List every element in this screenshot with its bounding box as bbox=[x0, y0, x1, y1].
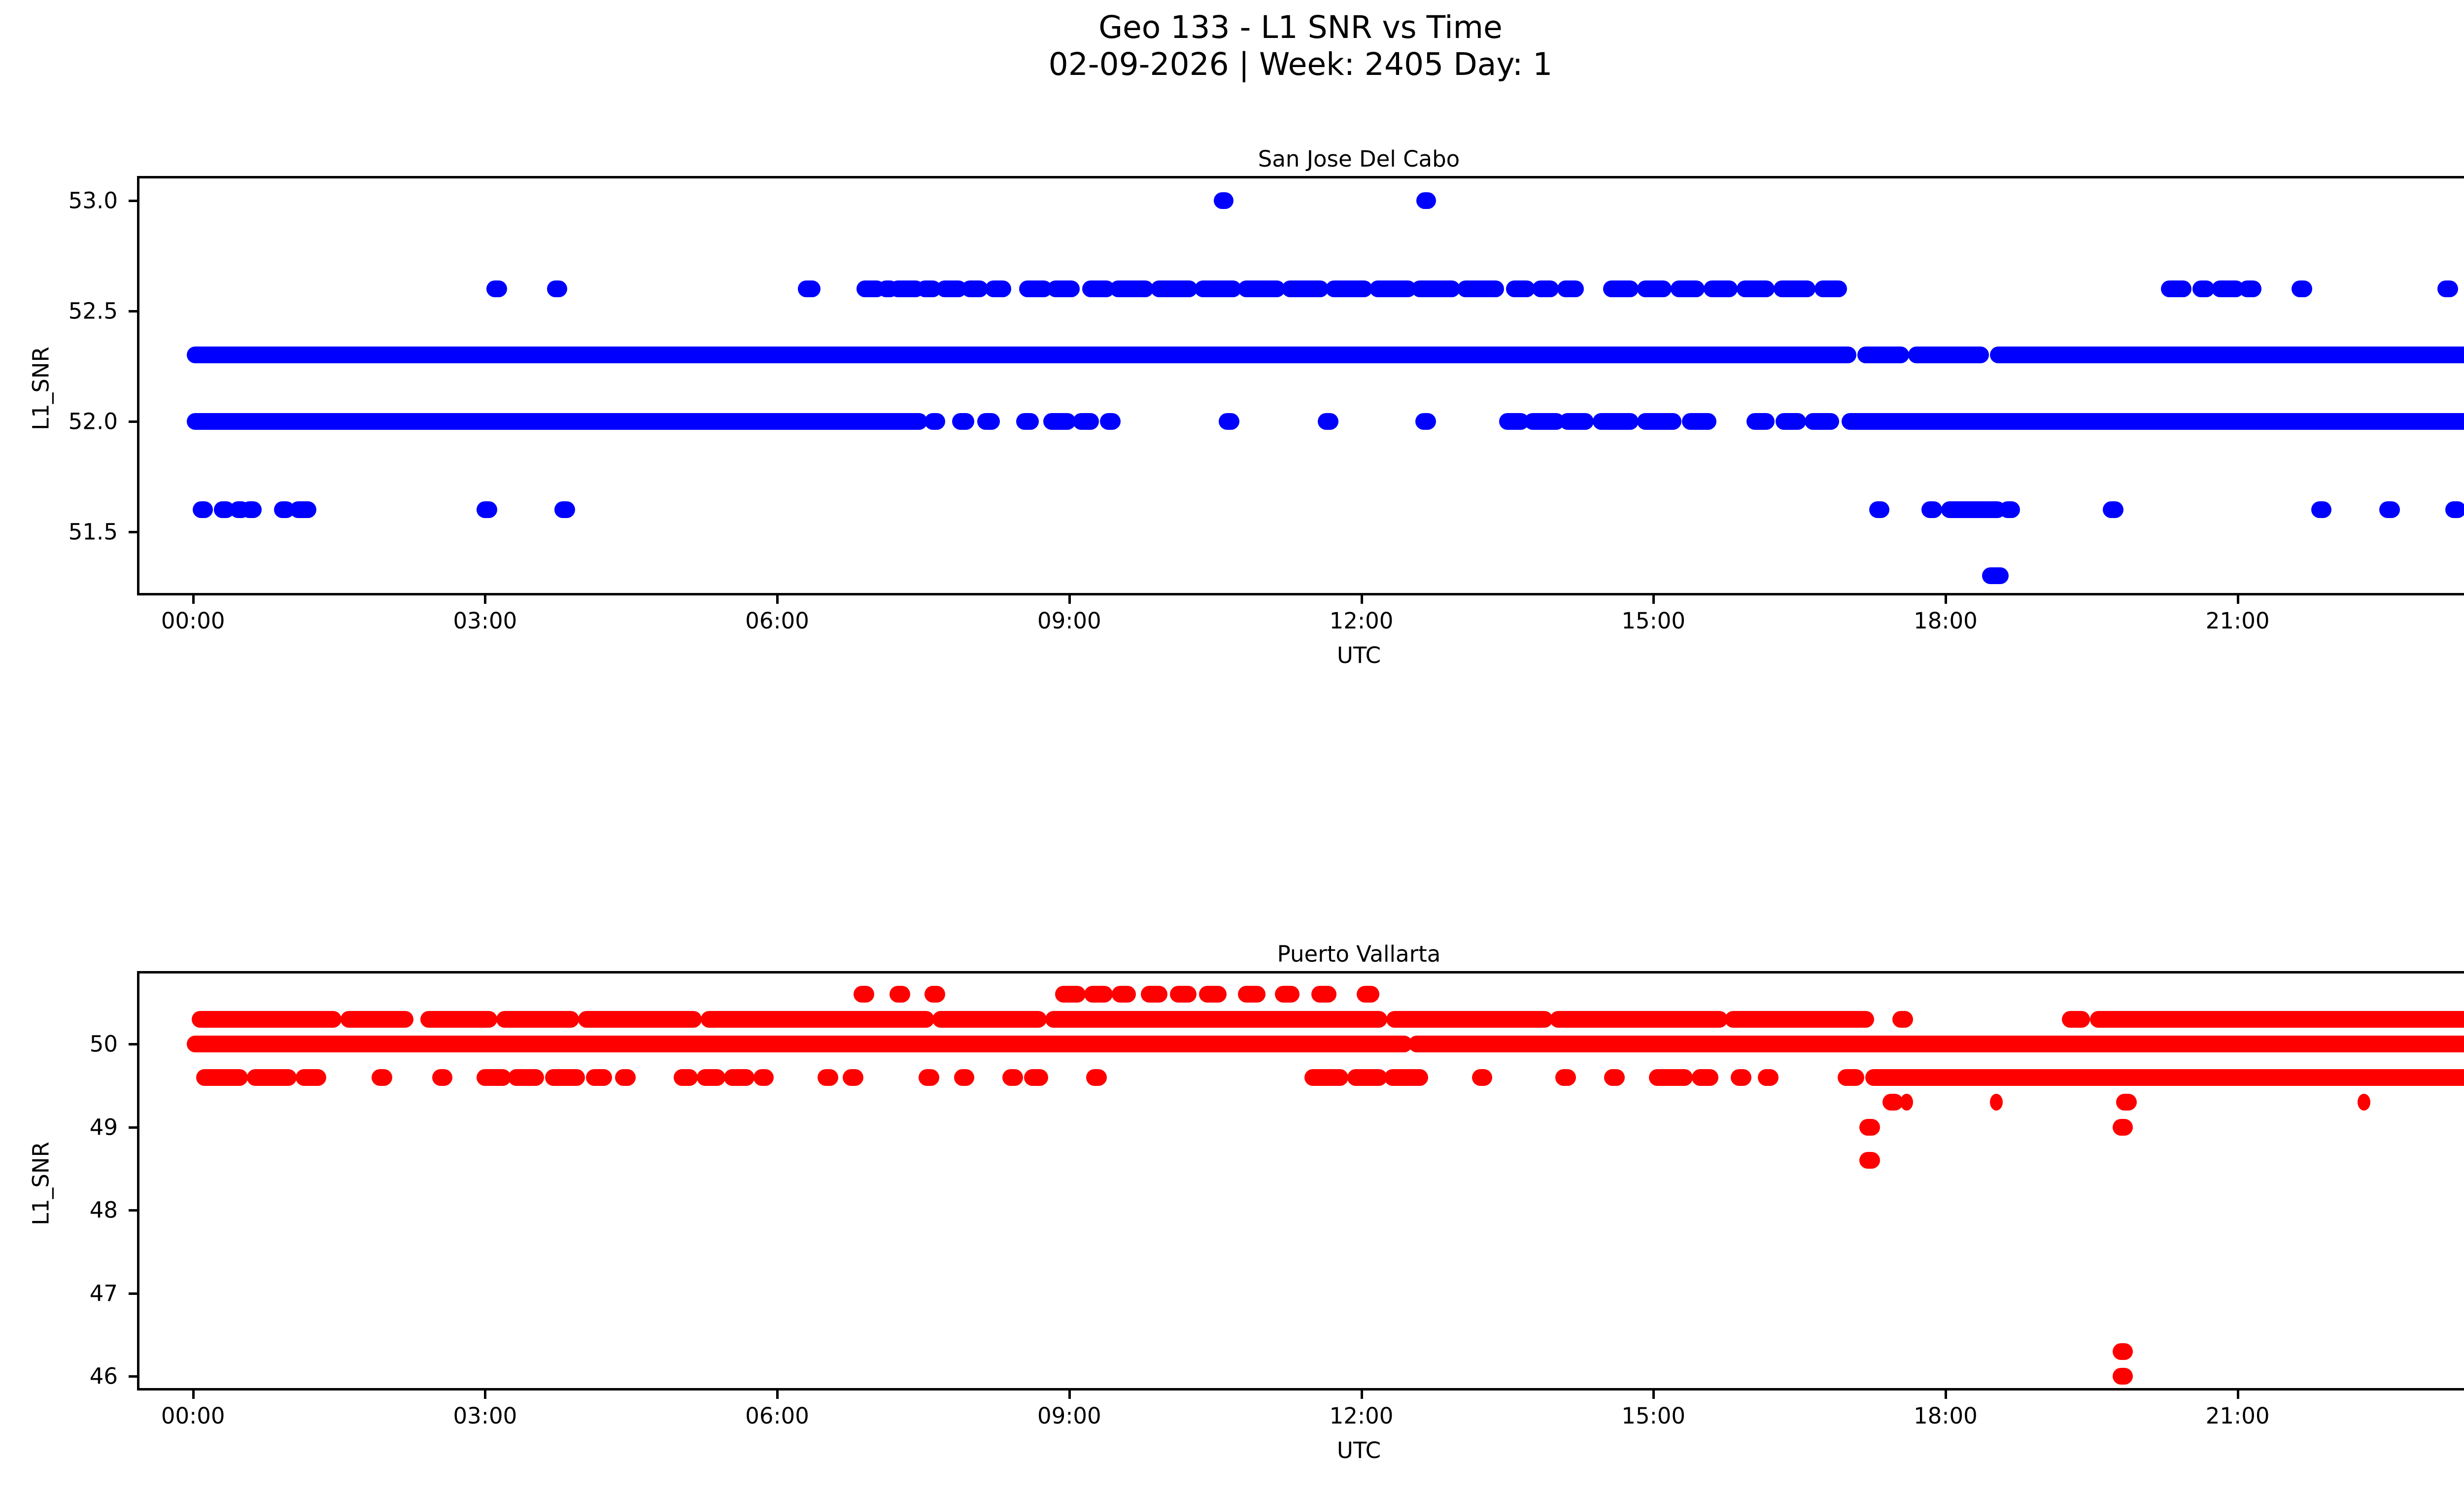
data-marker-run bbox=[1415, 413, 1436, 430]
data-marker-run bbox=[1318, 413, 1338, 430]
data-marker-run bbox=[2113, 1343, 2133, 1360]
data-marker-run bbox=[2437, 280, 2458, 297]
y-axis-tick-label: 51.5 bbox=[0, 521, 118, 543]
x-axis-tick-label: 03:00 bbox=[411, 610, 559, 632]
data-marker-run bbox=[924, 413, 945, 430]
x-axis-tick bbox=[484, 1388, 486, 1399]
y-axis-tick-label: 46 bbox=[0, 1365, 118, 1388]
data-marker-run bbox=[432, 1069, 453, 1086]
x-axis-tick bbox=[484, 593, 486, 604]
data-marker-run bbox=[985, 280, 1012, 297]
x-axis-tick-label: 18:00 bbox=[1872, 1405, 2019, 1427]
x-axis-tick bbox=[1652, 593, 1655, 604]
data-marker-run bbox=[1692, 1069, 1718, 1086]
scatter-plot-area-2 bbox=[139, 973, 2464, 1388]
data-marker-run bbox=[1112, 986, 1136, 1003]
y-axis-tick bbox=[129, 1126, 139, 1129]
x-axis-tick-label: 06:00 bbox=[703, 1405, 851, 1427]
data-marker-run bbox=[1746, 413, 1775, 430]
y-axis-tick bbox=[129, 1375, 139, 1378]
data-marker-run bbox=[1524, 413, 1564, 430]
data-marker-run bbox=[924, 986, 945, 1003]
y-axis-tick bbox=[129, 1043, 139, 1045]
data-marker-run bbox=[1151, 280, 1198, 297]
data-marker-run bbox=[1637, 413, 1681, 430]
data-marker-run bbox=[290, 501, 316, 518]
x-axis-tick-label: 18:00 bbox=[1872, 610, 2019, 632]
data-marker-run bbox=[1214, 192, 1233, 209]
x-axis-tick-label: 03:00 bbox=[411, 1405, 559, 1427]
data-marker-run bbox=[1386, 1011, 1553, 1028]
data-marker-run bbox=[1921, 501, 1942, 518]
data-marker-run bbox=[1859, 1152, 1880, 1169]
y-axis-label-2: L1_SNR bbox=[30, 1110, 52, 1257]
x-axis-tick-label: 21:00 bbox=[2164, 1405, 2312, 1427]
data-marker-run bbox=[1073, 413, 1099, 430]
subplot-title-1: San Jose Del Cabo bbox=[139, 148, 2464, 170]
data-marker-run bbox=[1457, 280, 1504, 297]
y-axis-tick bbox=[129, 420, 139, 423]
data-marker-run bbox=[1869, 501, 1890, 518]
data-marker-run bbox=[1908, 347, 1989, 363]
data-marker-run bbox=[2292, 280, 2312, 297]
data-marker-run bbox=[1842, 413, 2464, 430]
data-marker-run bbox=[1865, 1069, 2464, 1086]
data-marker-run bbox=[1275, 986, 1300, 1003]
data-marker-run bbox=[1304, 1069, 1348, 1086]
data-marker-run bbox=[1369, 280, 1416, 297]
data-marker-run bbox=[1047, 280, 1080, 297]
data-marker-run bbox=[2062, 1011, 2090, 1028]
data-marker-run bbox=[1110, 280, 1154, 297]
data-marker-run bbox=[843, 1069, 863, 1086]
data-marker-run bbox=[554, 501, 575, 518]
data-marker-run bbox=[1731, 1069, 1751, 1086]
data-marker-run bbox=[1704, 280, 1738, 297]
x-axis-tick bbox=[776, 593, 779, 604]
data-marker-run bbox=[1326, 280, 1372, 297]
x-axis-tick-label: 09:00 bbox=[995, 1405, 1143, 1427]
data-marker-run bbox=[1892, 1011, 1913, 1028]
data-marker-run bbox=[241, 501, 262, 518]
data-marker-run bbox=[2113, 1119, 2133, 1136]
data-marker-run bbox=[1195, 280, 1241, 297]
data-marker-run bbox=[496, 1011, 579, 1028]
data-marker-run bbox=[508, 1069, 544, 1086]
data-marker-run bbox=[1416, 192, 1436, 209]
data-marker-run bbox=[1532, 280, 1559, 297]
data-marker-run bbox=[247, 1069, 297, 1086]
data-marker-run bbox=[1043, 413, 1076, 430]
y-axis-tick-label: 52.0 bbox=[0, 410, 118, 432]
data-marker-run bbox=[798, 280, 821, 297]
data-marker-run bbox=[818, 1069, 838, 1086]
x-axis-tick-label: 00:00 bbox=[119, 610, 267, 632]
x-axis-tick-label: 00:00 bbox=[119, 1405, 267, 1427]
x-axis-tick bbox=[1361, 1388, 1363, 1399]
data-marker-run bbox=[1282, 280, 1329, 297]
data-marker-run bbox=[932, 1011, 1046, 1028]
x-axis-label-2: UTC bbox=[139, 1439, 2464, 1461]
data-marker-run bbox=[890, 986, 910, 1003]
y-axis-tick bbox=[129, 531, 139, 533]
data-marker-run bbox=[1141, 986, 1167, 1003]
data-marker-run bbox=[578, 1011, 702, 1028]
data-marker-run bbox=[1024, 1069, 1049, 1086]
data-marker-run bbox=[697, 1069, 725, 1086]
data-marker-run bbox=[1384, 1069, 1428, 1086]
figure-canvas: Geo 133 - L1 SNR vs Time 02-09-2026 | We… bbox=[0, 0, 2464, 1495]
data-marker-run bbox=[1045, 1011, 1387, 1028]
data-marker-run bbox=[724, 1069, 754, 1086]
x-axis-tick bbox=[1652, 1388, 1655, 1399]
x-axis-tick-label: 09:00 bbox=[995, 610, 1143, 632]
data-marker-run bbox=[1682, 413, 1716, 430]
y-axis-tick-label: 49 bbox=[0, 1116, 118, 1138]
y-axis-tick bbox=[129, 1209, 139, 1212]
subplot-title-2: Puerto Vallarta bbox=[139, 943, 2464, 965]
data-marker-run bbox=[2379, 501, 2400, 518]
data-marker-run bbox=[1550, 1011, 1728, 1028]
data-marker-run bbox=[1170, 986, 1197, 1003]
data-marker-run bbox=[1347, 1069, 1387, 1086]
data-point bbox=[1990, 1094, 2003, 1111]
data-marker-run bbox=[1776, 413, 1806, 430]
data-marker-run bbox=[1086, 1069, 1107, 1086]
data-marker-run bbox=[1100, 413, 1121, 430]
data-marker-run bbox=[1999, 501, 2020, 518]
data-marker-run bbox=[2116, 1094, 2137, 1111]
suptitle-line-2: 02-09-2026 | Week: 2405 Day: 1 bbox=[0, 46, 2464, 83]
figure-suptitle: Geo 133 - L1 SNR vs Time 02-09-2026 | We… bbox=[0, 0, 2464, 83]
data-marker-run bbox=[977, 413, 1000, 430]
y-axis-tick-label: 53.0 bbox=[0, 189, 118, 211]
data-marker-run bbox=[545, 1069, 585, 1086]
x-axis-tick-label: 00:00 bbox=[2456, 610, 2464, 632]
y-axis-tick bbox=[129, 1292, 139, 1295]
data-marker-run bbox=[1238, 280, 1285, 297]
data-marker-run bbox=[919, 1069, 939, 1086]
data-marker-run bbox=[854, 986, 874, 1003]
data-marker-run bbox=[477, 501, 497, 518]
data-marker-run bbox=[1814, 280, 1847, 297]
data-marker-run bbox=[1982, 567, 2009, 584]
data-marker-run bbox=[1506, 280, 1536, 297]
x-axis-tick bbox=[1068, 1388, 1071, 1399]
y-axis-tick-label: 48 bbox=[0, 1199, 118, 1221]
x-axis-label-1: UTC bbox=[139, 644, 2464, 666]
x-axis-tick-label: 06:00 bbox=[703, 610, 851, 632]
data-marker-run bbox=[341, 1011, 413, 1028]
y-axis-label-1: L1_SNR bbox=[30, 314, 52, 462]
y-axis-tick bbox=[129, 200, 139, 202]
data-marker-run bbox=[1559, 413, 1593, 430]
data-marker-run bbox=[187, 413, 928, 430]
data-marker-run bbox=[1219, 413, 1239, 430]
data-marker-run bbox=[2311, 501, 2332, 518]
x-axis-tick bbox=[1361, 593, 1363, 604]
suptitle-line-1: Geo 133 - L1 SNR vs Time bbox=[0, 0, 2464, 46]
data-marker-run bbox=[372, 1069, 392, 1086]
y-axis-tick-label: 47 bbox=[0, 1282, 118, 1304]
x-axis-tick bbox=[2237, 1388, 2239, 1399]
data-marker-run bbox=[954, 1069, 975, 1086]
x-axis-tick-label: 15:00 bbox=[1579, 610, 1727, 632]
chart-panel-puerto-vallarta: Puerto Vallarta 00:0003:0006:0009:0012:0… bbox=[137, 971, 2464, 1391]
data-marker-run bbox=[1472, 1069, 1493, 1086]
chart-panel-san-jose-del-cabo: San Jose Del Cabo 00:0003:0006:0009:0012… bbox=[137, 176, 2464, 595]
data-marker-run bbox=[1408, 1036, 2464, 1052]
x-axis-tick bbox=[2237, 593, 2239, 604]
data-marker-run bbox=[674, 1069, 698, 1086]
data-marker-run bbox=[1649, 1069, 1693, 1086]
x-axis-tick bbox=[776, 1388, 779, 1399]
data-marker-run bbox=[1725, 1011, 1874, 1028]
data-marker-run bbox=[2239, 280, 2261, 297]
data-marker-run bbox=[1557, 280, 1584, 297]
x-axis-tick-label: 12:00 bbox=[1288, 1405, 1436, 1427]
data-marker-run bbox=[196, 1069, 248, 1086]
y-axis-tick-label: 52.5 bbox=[0, 300, 118, 322]
y-axis-tick bbox=[129, 310, 139, 313]
data-marker-run bbox=[1637, 280, 1671, 297]
data-marker-run bbox=[420, 1011, 497, 1028]
x-axis-tick-label: 12:00 bbox=[1288, 610, 1436, 632]
data-marker-run bbox=[1857, 347, 1909, 363]
scatter-plot-area-1 bbox=[139, 178, 2464, 593]
data-marker-run bbox=[1671, 280, 1705, 297]
x-axis-tick bbox=[1945, 593, 1947, 604]
data-marker-run bbox=[193, 501, 213, 518]
data-marker-run bbox=[1016, 413, 1039, 430]
data-marker-run bbox=[1311, 986, 1337, 1003]
data-marker-run bbox=[1859, 1119, 1880, 1136]
data-marker-run bbox=[1055, 986, 1086, 1003]
data-point bbox=[1900, 1094, 1913, 1111]
data-marker-run bbox=[1238, 986, 1266, 1003]
data-marker-run bbox=[192, 1011, 342, 1028]
data-marker-run bbox=[2113, 1368, 2133, 1385]
data-marker-run bbox=[1758, 1069, 1779, 1086]
x-axis-tick bbox=[1068, 593, 1071, 604]
data-marker-run bbox=[1002, 1069, 1023, 1086]
data-marker-run bbox=[1774, 280, 1815, 297]
data-marker-run bbox=[701, 1011, 934, 1028]
data-point bbox=[2358, 1094, 2370, 1111]
x-axis-tick-label: 00:00 bbox=[2456, 1405, 2464, 1427]
data-marker-run bbox=[477, 1069, 511, 1086]
data-marker-run bbox=[615, 1069, 636, 1086]
y-axis-tick-label: 50 bbox=[0, 1033, 118, 1055]
x-axis-tick-label: 15:00 bbox=[1579, 1405, 1727, 1427]
data-marker-run bbox=[2161, 280, 2191, 297]
data-marker-run bbox=[1357, 986, 1379, 1003]
data-marker-run bbox=[2103, 501, 2123, 518]
data-marker-run bbox=[1593, 413, 1639, 430]
data-marker-run bbox=[2445, 501, 2464, 518]
data-marker-run bbox=[2090, 1011, 2464, 1028]
data-marker-run bbox=[296, 1069, 326, 1086]
data-marker-run bbox=[1838, 1069, 1864, 1086]
data-marker-run bbox=[586, 1069, 613, 1086]
data-marker-run bbox=[1604, 1069, 1625, 1086]
x-axis-tick bbox=[192, 593, 195, 604]
data-marker-run bbox=[1737, 280, 1775, 297]
data-marker-run bbox=[1941, 501, 2006, 518]
data-marker-run bbox=[187, 347, 1857, 363]
data-marker-run bbox=[753, 1069, 774, 1086]
data-marker-run bbox=[961, 280, 988, 297]
data-marker-run bbox=[187, 1036, 1413, 1052]
x-axis-tick-label: 21:00 bbox=[2164, 610, 2312, 632]
data-marker-run bbox=[952, 413, 975, 430]
data-marker-run bbox=[547, 280, 568, 297]
data-marker-run bbox=[1411, 280, 1460, 297]
data-marker-run bbox=[1555, 1069, 1576, 1086]
data-marker-run bbox=[1603, 280, 1638, 297]
data-marker-run bbox=[486, 280, 507, 297]
x-axis-tick bbox=[1945, 1388, 1947, 1399]
x-axis-tick bbox=[192, 1388, 195, 1399]
data-marker-run bbox=[1084, 986, 1113, 1003]
data-marker-run bbox=[1805, 413, 1839, 430]
data-marker-run bbox=[1990, 347, 2464, 363]
data-marker-run bbox=[1199, 986, 1227, 1003]
